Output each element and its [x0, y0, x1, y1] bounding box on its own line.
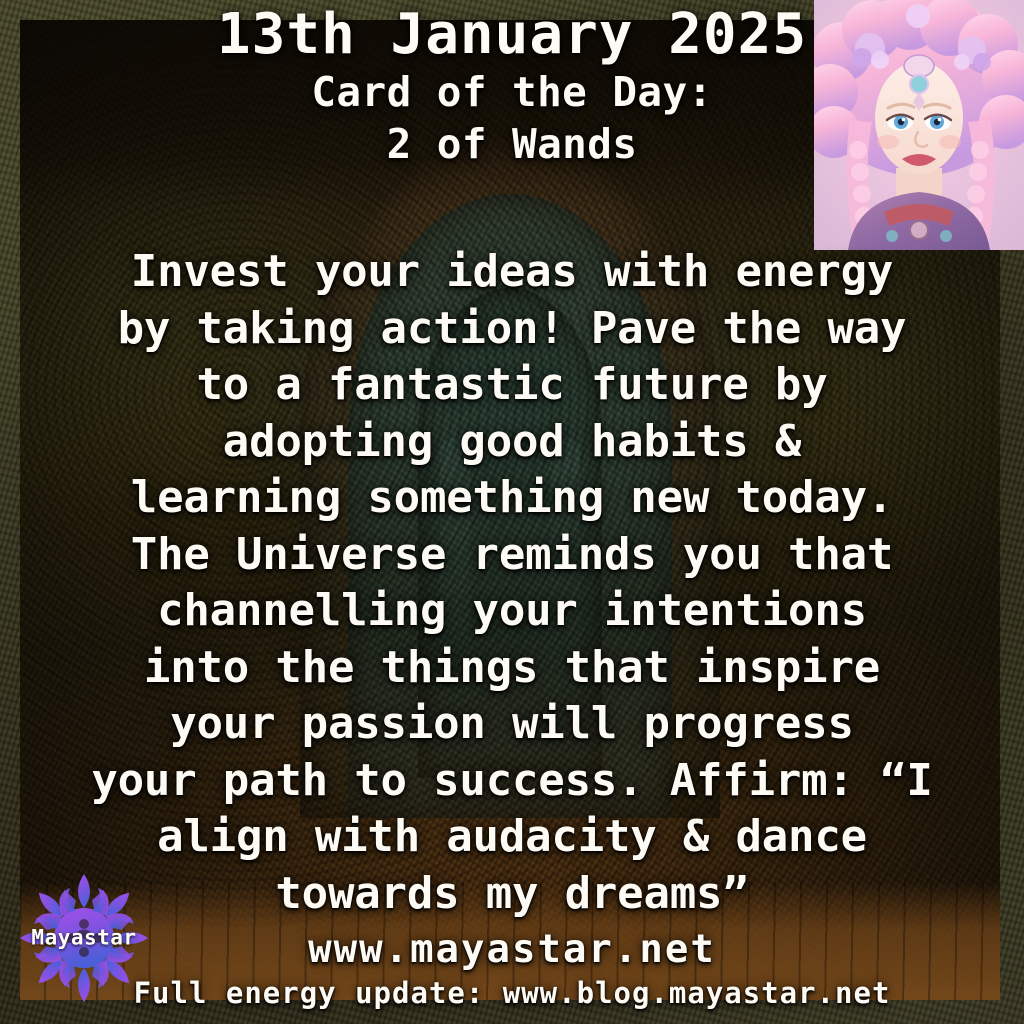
body-line: your passion will progress — [0, 696, 1024, 753]
body-line: your path to success. Affirm: “I — [0, 753, 1024, 810]
card-name: 2 of Wands — [0, 118, 1024, 170]
body-line: to a fantastic future by — [0, 357, 1024, 414]
body-line: Invest your ideas with energy — [0, 244, 1024, 301]
body-line: learning something new today. — [0, 470, 1024, 527]
text-content-layer: 13th January 2025 Card of the Day: 2 of … — [0, 0, 1024, 1024]
card-of-the-day-label: Card of the Day: — [0, 66, 1024, 118]
body-line: into the things that inspire — [0, 640, 1024, 697]
reading-body-text: Invest your ideas with energy by taking … — [0, 244, 1024, 922]
body-line: adopting good habits & — [0, 414, 1024, 471]
body-line: by taking action! Pave the way — [0, 301, 1024, 358]
date-heading: 13th January 2025 — [0, 4, 1024, 66]
header-block: 13th January 2025 Card of the Day: 2 of … — [0, 4, 1024, 170]
mayastar-logo[interactable]: Mayastar — [8, 874, 160, 1002]
logo-brand-text: Mayastar — [8, 926, 160, 950]
body-line: The Universe reminds you that — [0, 527, 1024, 584]
card-of-the-day-image: 13th January 2025 Card of the Day: 2 of … — [0, 0, 1024, 1024]
body-line: align with audacity & dance — [0, 809, 1024, 866]
body-line: channelling your intentions — [0, 583, 1024, 640]
